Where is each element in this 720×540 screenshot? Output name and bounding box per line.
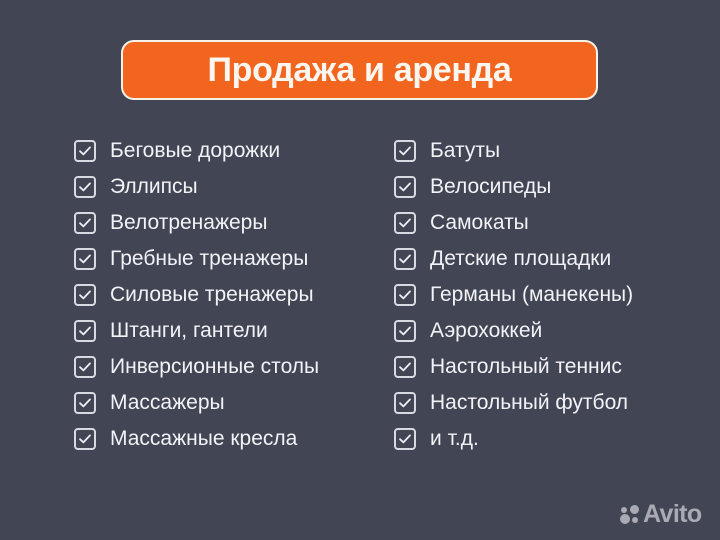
checkbox-checked-icon[interactable] bbox=[394, 212, 416, 234]
page-title: Продажа и аренда bbox=[207, 53, 511, 87]
checklist-item[interactable]: Батуты bbox=[394, 138, 633, 164]
checklist-item[interactable]: Настольный футбол bbox=[394, 390, 633, 416]
checkbox-checked-icon[interactable] bbox=[394, 392, 416, 414]
checklist-item-label: Массажные кресла bbox=[110, 426, 297, 452]
checklist-item[interactable]: Силовые тренажеры bbox=[74, 282, 319, 308]
checklist-item-label: Велосипеды bbox=[430, 174, 551, 200]
avito-wordmark: Avito bbox=[643, 502, 702, 527]
checklist-item[interactable]: Массажеры bbox=[74, 390, 319, 416]
checklist-item-label: и т.д. bbox=[430, 426, 479, 452]
checkbox-checked-icon[interactable] bbox=[74, 140, 96, 162]
checkbox-checked-icon[interactable] bbox=[394, 284, 416, 306]
checkbox-checked-icon[interactable] bbox=[394, 176, 416, 198]
checklist-item-label: Гребные тренажеры bbox=[110, 246, 308, 272]
checklist-item-label: Германы (манекены) bbox=[430, 282, 633, 308]
checklist-item[interactable]: Велотренажеры bbox=[74, 210, 319, 236]
checklist-item-label: Детские площадки bbox=[430, 246, 611, 272]
checklist-item[interactable]: Аэрохоккей bbox=[394, 318, 633, 344]
checkbox-checked-icon[interactable] bbox=[74, 248, 96, 270]
checkbox-checked-icon[interactable] bbox=[74, 320, 96, 342]
checkbox-checked-icon[interactable] bbox=[74, 212, 96, 234]
checklist-item[interactable]: Штанги, гантели bbox=[74, 318, 319, 344]
checkbox-checked-icon[interactable] bbox=[394, 248, 416, 270]
checklist-item[interactable]: Германы (манекены) bbox=[394, 282, 633, 308]
title-banner: Продажа и аренда bbox=[121, 40, 598, 100]
promo-slide: Продажа и аренда Беговые дорожкиЭллипсыВ… bbox=[0, 0, 720, 540]
checklist-item[interactable]: Гребные тренажеры bbox=[74, 246, 319, 272]
checkbox-checked-icon[interactable] bbox=[74, 356, 96, 378]
checkbox-checked-icon[interactable] bbox=[394, 140, 416, 162]
checklist-item-label: Штанги, гантели bbox=[110, 318, 268, 344]
checkbox-checked-icon[interactable] bbox=[394, 320, 416, 342]
checklist-item[interactable]: Массажные кресла bbox=[74, 426, 319, 452]
checklist-item[interactable]: Детские площадки bbox=[394, 246, 633, 272]
checklist-item[interactable]: Эллипсы bbox=[74, 174, 319, 200]
avito-dots-icon bbox=[620, 504, 642, 526]
checklist-column-left: Беговые дорожкиЭллипсыВелотренажерыГребн… bbox=[74, 138, 319, 462]
checklist-item[interactable]: Инверсионные столы bbox=[74, 354, 319, 380]
avito-watermark: Avito bbox=[620, 502, 702, 527]
checkbox-checked-icon[interactable] bbox=[74, 176, 96, 198]
checklist-item[interactable]: Велосипеды bbox=[394, 174, 633, 200]
checklist-item-label: Настольный футбол bbox=[430, 390, 628, 416]
checklist-item-label: Аэрохоккей bbox=[430, 318, 542, 344]
checklist-item-label: Силовые тренажеры bbox=[110, 282, 314, 308]
checkbox-checked-icon[interactable] bbox=[74, 392, 96, 414]
checkbox-checked-icon[interactable] bbox=[74, 284, 96, 306]
checklist-item[interactable]: Беговые дорожки bbox=[74, 138, 319, 164]
checklist-item-label: Батуты bbox=[430, 138, 500, 164]
checklist-item-label: Беговые дорожки bbox=[110, 138, 280, 164]
checklist-item[interactable]: Настольный теннис bbox=[394, 354, 633, 380]
checklist-item[interactable]: Самокаты bbox=[394, 210, 633, 236]
checkbox-checked-icon[interactable] bbox=[74, 428, 96, 450]
checklist-item-label: Самокаты bbox=[430, 210, 529, 236]
checklist-item-label: Инверсионные столы bbox=[110, 354, 319, 380]
checkbox-checked-icon[interactable] bbox=[394, 356, 416, 378]
checklist-item[interactable]: и т.д. bbox=[394, 426, 633, 452]
checklist-item-label: Настольный теннис bbox=[430, 354, 622, 380]
checklist-item-label: Велотренажеры bbox=[110, 210, 267, 236]
checklist-item-label: Массажеры bbox=[110, 390, 225, 416]
checklist-column-right: БатутыВелосипедыСамокатыДетские площадки… bbox=[394, 138, 633, 462]
checklist-item-label: Эллипсы bbox=[110, 174, 198, 200]
checkbox-checked-icon[interactable] bbox=[394, 428, 416, 450]
